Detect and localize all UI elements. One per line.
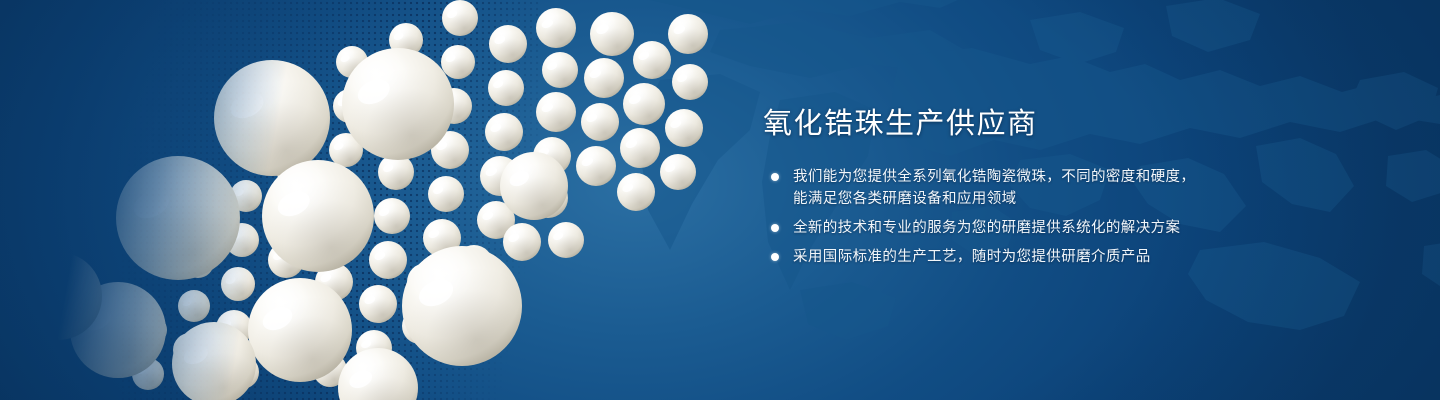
page-title: 氧化锆珠生产供应商 [763, 104, 1323, 144]
list-item: 全新的技术和专业的服务为您的研磨提供系统化的解决方案 [763, 217, 1323, 239]
list-item-line: 我们能为您提供全系列氧化锆陶瓷微珠，不同的密度和硬度， [793, 166, 1323, 188]
list-item: 我们能为您提供全系列氧化锆陶瓷微珠，不同的密度和硬度， 能满足您各类研磨设备和应… [763, 166, 1323, 210]
feature-list: 我们能为您提供全系列氧化锆陶瓷微珠，不同的密度和硬度， 能满足您各类研磨设备和应… [763, 166, 1323, 268]
list-item-line: 全新的技术和专业的服务为您的研磨提供系统化的解决方案 [793, 217, 1323, 239]
hero-banner: 氧化锆珠生产供应商 我们能为您提供全系列氧化锆陶瓷微珠，不同的密度和硬度， 能满… [0, 0, 1440, 400]
list-item-line: 采用国际标准的生产工艺，随时为您提供研磨介质产品 [793, 246, 1323, 268]
bullet-dot-icon [771, 173, 779, 181]
list-item: 采用国际标准的生产工艺，随时为您提供研磨介质产品 [763, 246, 1323, 268]
banner-copy: 氧化锆珠生产供应商 我们能为您提供全系列氧化锆陶瓷微珠，不同的密度和硬度， 能满… [763, 104, 1323, 268]
bullet-dot-icon [771, 253, 779, 261]
list-item-line: 能满足您各类研磨设备和应用领域 [793, 188, 1323, 210]
bullet-dot-icon [771, 224, 779, 232]
